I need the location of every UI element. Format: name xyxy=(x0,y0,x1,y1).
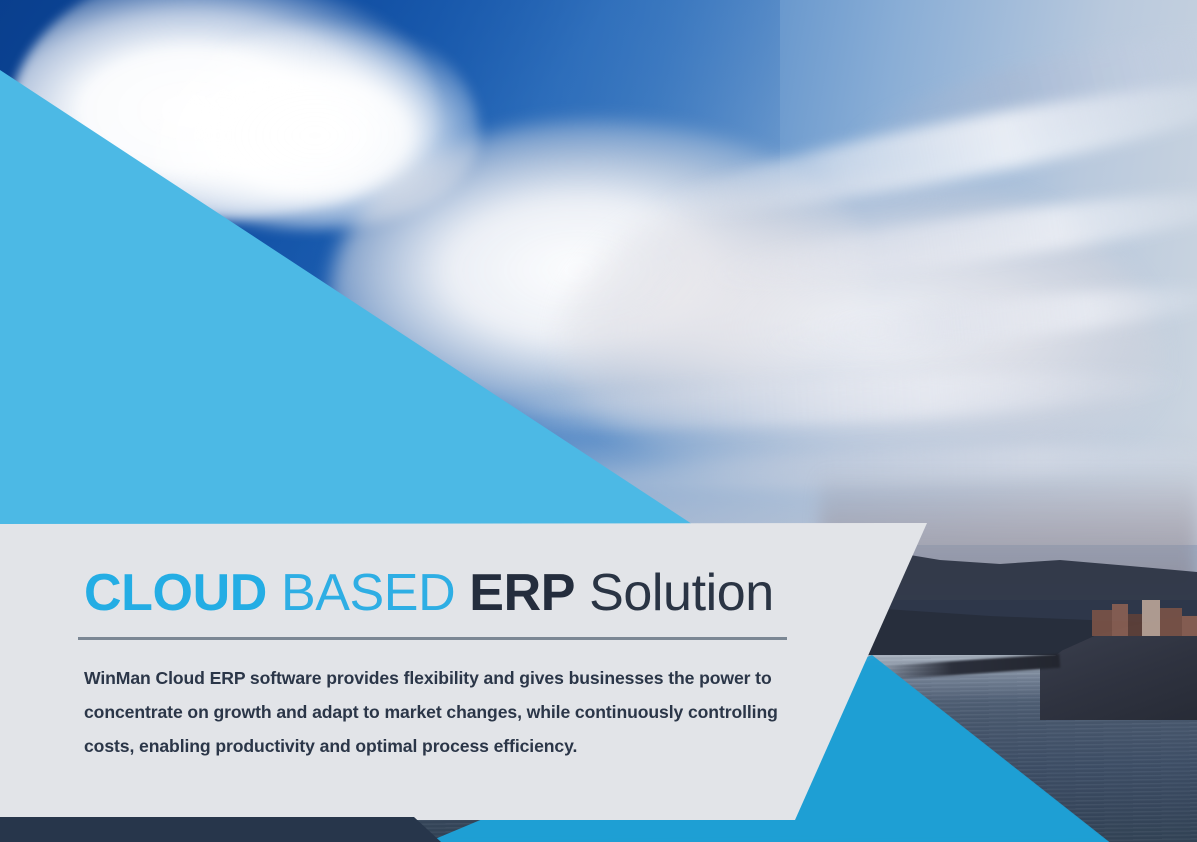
content-block: CLOUD BASED ERP Solution WinMan Cloud ER… xyxy=(84,566,804,763)
building xyxy=(1128,614,1142,636)
building xyxy=(1142,600,1160,636)
building xyxy=(1112,604,1128,636)
bottom-accent-bar xyxy=(0,817,470,842)
body-paragraph: WinMan Cloud ERP software provides flexi… xyxy=(84,662,796,763)
headline-word-solution: Solution xyxy=(589,564,774,622)
hero-banner: CLOUD BASED ERP Solution WinMan Cloud ER… xyxy=(0,0,1197,842)
building xyxy=(1182,616,1197,636)
headline-word-based: BASED xyxy=(281,564,455,622)
coastal-town-buildings xyxy=(1090,596,1197,640)
headline-word-erp: ERP xyxy=(469,564,575,622)
building xyxy=(1092,610,1112,636)
title-divider-rule xyxy=(78,637,787,640)
page-title: CLOUD BASED ERP Solution xyxy=(84,566,804,621)
building xyxy=(1160,608,1182,636)
headline-word-cloud: CLOUD xyxy=(84,564,267,622)
